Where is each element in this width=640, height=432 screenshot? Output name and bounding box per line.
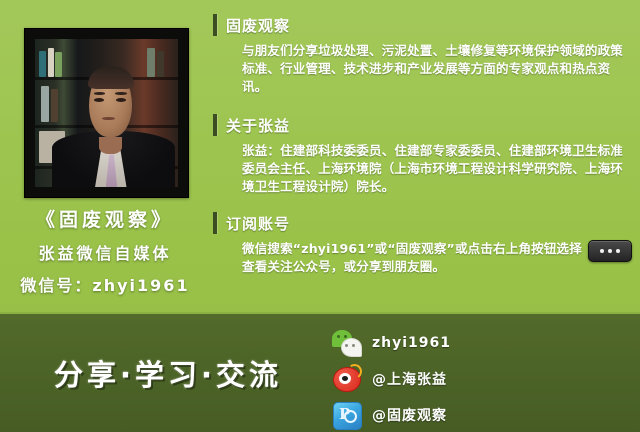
social-row-wechat[interactable]: zhyi1961 — [332, 326, 502, 360]
social-list: zhyi1961 @上海张益 P @固废观察 — [332, 326, 502, 432]
caption-subtitle: 张益微信自媒体 — [0, 240, 210, 264]
social-row-tencent-weibo[interactable]: P @固废观察 — [332, 398, 502, 432]
weibo-icon — [332, 364, 362, 394]
section-header: 关于张益 — [212, 112, 640, 138]
social-label: zhyi1961 — [372, 335, 451, 351]
dot-icon — [608, 249, 612, 253]
more-options-button[interactable] — [588, 240, 632, 262]
section-marker-icon — [213, 114, 217, 136]
section-header: 订阅账号 — [212, 210, 640, 236]
social-label: @上海张益 — [372, 369, 447, 389]
sections-column: 固废观察 与朋友们分享垃圾处理、污泥处置、土壤修复等环境保护领域的政策标准、行业… — [212, 0, 640, 312]
section-title: 固废观察 — [226, 15, 290, 36]
section-subscribe: 订阅账号 微信搜索“zhyi1961”或“固废观察”或点击右上角按钮选择查看关注… — [212, 210, 640, 276]
portrait-photo — [35, 39, 178, 187]
caption-title: 《固废观察》 — [0, 205, 210, 232]
footer-slogan: 分享·学习·交流 — [18, 352, 318, 394]
section-header: 固废观察 — [212, 12, 640, 38]
section-about-zhangyi: 关于张益 张益：住建部科技委委员、住建部专家委委员、住建部环境卫生标准委员会主任… — [212, 112, 640, 196]
section-marker-icon — [213, 212, 217, 234]
wechat-icon — [332, 328, 362, 358]
footer-bar: 分享·学习·交流 zhyi1961 @上海张益 — [0, 312, 640, 432]
section-body: 微信搜索“zhyi1961”或“固废观察”或点击右上角按钮选择查看关注公众号，或… — [242, 240, 594, 276]
section-body: 与朋友们分享垃圾处理、污泥处置、土壤修复等环境保护领域的政策标准、行业管理、技术… — [242, 42, 632, 96]
social-row-weibo[interactable]: @上海张益 — [332, 362, 502, 396]
portrait-frame — [24, 28, 189, 198]
wechat-profile-card: 《固废观察》 张益微信自媒体 微信号：zhyi1961 固废观察 与朋友们分享垃… — [0, 0, 640, 432]
caption-wechat-id: 微信号：zhyi1961 — [0, 272, 210, 296]
social-label: @固废观察 — [372, 405, 447, 425]
section-title: 关于张益 — [226, 115, 290, 136]
section-title: 订阅账号 — [226, 213, 290, 234]
dot-icon — [616, 249, 620, 253]
section-guanfei-guancha: 固废观察 与朋友们分享垃圾处理、污泥处置、土壤修复等环境保护领域的政策标准、行业… — [212, 12, 640, 96]
profile-column: 《固废观察》 张益微信自媒体 微信号：zhyi1961 — [0, 0, 210, 312]
tencent-weibo-icon: P — [332, 400, 362, 430]
section-body: 张益：住建部科技委委员、住建部专家委委员、住建部环境卫生标准委员会主任、上海环境… — [242, 142, 632, 196]
dot-icon — [600, 249, 604, 253]
section-marker-icon — [213, 14, 217, 36]
